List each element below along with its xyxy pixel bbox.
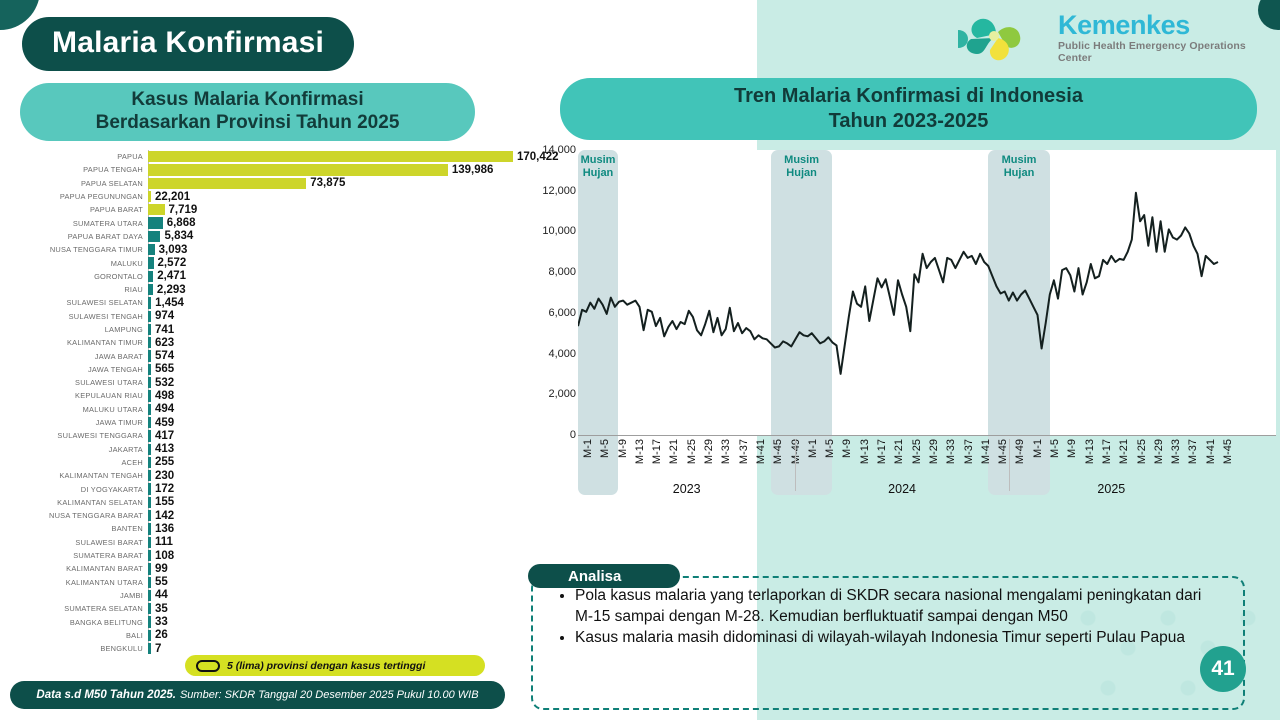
clover-logo-icon bbox=[950, 8, 1050, 64]
bar-track: 142 bbox=[148, 509, 515, 522]
bar-chart-row: KALIMANTAN SELATAN155 bbox=[0, 496, 515, 509]
bar-chart-row: BANGKA BELITUNG33 bbox=[0, 615, 515, 628]
bar-chart-row: SUMATERA SELATAN35 bbox=[0, 602, 515, 615]
bar-chart-row: PAPUA TENGAH139,986 bbox=[0, 163, 515, 176]
bar-chart-row: JAWA TIMUR459 bbox=[0, 416, 515, 429]
bar-chart-row: MALUKU UTARA494 bbox=[0, 403, 515, 416]
kemenkes-logo: Kemenkes Public Health Emergency Operati… bbox=[950, 8, 1260, 64]
right-chart-title-line2: Tahun 2023-2025 bbox=[829, 109, 989, 134]
bar-chart-row: KALIMANTAN BARAT99 bbox=[0, 562, 515, 575]
line-chart-x-axis bbox=[578, 435, 1276, 436]
year-separator bbox=[795, 439, 796, 491]
bar-fill bbox=[148, 271, 153, 282]
x-tick-label: M-45 bbox=[772, 439, 784, 464]
x-tick-label: M-25 bbox=[1136, 439, 1148, 464]
bar-track: 459 bbox=[148, 416, 515, 429]
trend-line-series bbox=[578, 150, 1276, 435]
bar-category-label: PAPUA TENGAH bbox=[0, 165, 148, 174]
bar-value-label: 2,572 bbox=[158, 257, 187, 269]
footer-data-period: Data s.d M50 Tahun 2025. bbox=[36, 689, 176, 701]
page-title: Malaria Konfirmasi bbox=[22, 17, 354, 71]
bar-chart-row: GORONTALO2,471 bbox=[0, 270, 515, 283]
bar-fill bbox=[148, 444, 151, 455]
bar-track: 741 bbox=[148, 323, 515, 336]
left-chart-title-line1: Kasus Malaria Konfirmasi bbox=[131, 89, 363, 112]
x-tick-label: M-45 bbox=[997, 439, 1009, 464]
bar-track: 99 bbox=[148, 562, 515, 575]
bar-value-label: 142 bbox=[155, 510, 174, 522]
legend-swatch-icon bbox=[196, 660, 220, 672]
bar-value-label: 565 bbox=[155, 363, 174, 375]
x-tick-label: M-29 bbox=[1153, 439, 1165, 464]
bar-value-label: 417 bbox=[155, 430, 174, 442]
x-tick-label: M-25 bbox=[911, 439, 923, 464]
bar-chart-row: PAPUA PEGUNUNGAN22,201 bbox=[0, 190, 515, 203]
bar-chart-row: RIAU2,293 bbox=[0, 283, 515, 296]
bar-track: 1,454 bbox=[148, 296, 515, 309]
bar-value-label: 172 bbox=[155, 483, 174, 495]
bar-fill bbox=[148, 324, 151, 335]
bar-chart-row: KALIMANTAN UTARA55 bbox=[0, 576, 515, 589]
bar-category-label: JAKARTA bbox=[0, 445, 148, 454]
bar-category-label: NUSA TENGGARA BARAT bbox=[0, 511, 148, 520]
bar-value-label: 494 bbox=[155, 403, 174, 415]
bar-value-label: 2,471 bbox=[157, 270, 186, 282]
bar-track: 172 bbox=[148, 482, 515, 495]
bar-category-label: KALIMANTAN BARAT bbox=[0, 564, 148, 573]
x-tick-label: M-17 bbox=[876, 439, 888, 464]
x-tick-label: M-13 bbox=[859, 439, 871, 464]
bar-chart-row: JAMBI44 bbox=[0, 589, 515, 602]
bar-chart-row: DI YOGYAKARTA172 bbox=[0, 482, 515, 495]
bar-fill bbox=[148, 616, 151, 627]
bar-fill bbox=[148, 164, 448, 175]
slide-root: Malaria Konfirmasi Kemenkes Public Healt… bbox=[0, 0, 1280, 720]
bar-value-label: 55 bbox=[155, 576, 168, 588]
bar-category-label: JAWA TENGAH bbox=[0, 365, 148, 374]
bar-chart-row: ACEH255 bbox=[0, 456, 515, 469]
bar-category-label: KALIMANTAN TIMUR bbox=[0, 338, 148, 347]
bar-track: 5,834 bbox=[148, 230, 515, 243]
bar-track: 498 bbox=[148, 389, 515, 402]
bar-fill bbox=[148, 430, 151, 441]
bar-track: 7 bbox=[148, 642, 515, 655]
bar-fill bbox=[148, 311, 151, 322]
bar-category-label: SUMATERA BARAT bbox=[0, 551, 148, 560]
bar-fill bbox=[148, 563, 151, 574]
bar-track: 494 bbox=[148, 403, 515, 416]
bar-track: 108 bbox=[148, 549, 515, 562]
bar-fill bbox=[148, 537, 151, 548]
x-tick-label: M-33 bbox=[1170, 439, 1182, 464]
bar-fill bbox=[148, 178, 306, 189]
bar-track: 44 bbox=[148, 589, 515, 602]
bar-category-label: BALI bbox=[0, 631, 148, 640]
bar-value-label: 574 bbox=[155, 350, 174, 362]
y-tick-label: 10,000 bbox=[520, 225, 576, 237]
bar-chart-row: SULAWESI UTARA532 bbox=[0, 376, 515, 389]
y-tick-label: 8,000 bbox=[520, 266, 576, 278]
bar-chart-row: KEPULAUAN RIAU498 bbox=[0, 389, 515, 402]
x-tick-label: M-17 bbox=[1101, 439, 1113, 464]
bar-track: 155 bbox=[148, 496, 515, 509]
bar-value-label: 5,834 bbox=[164, 230, 193, 242]
bar-fill bbox=[148, 377, 151, 388]
bar-value-label: 230 bbox=[155, 470, 174, 482]
analisa-bullet: Kasus malaria masih didominasi di wilaya… bbox=[575, 628, 1218, 649]
bar-fill bbox=[148, 630, 151, 641]
bar-fill bbox=[148, 577, 151, 588]
bar-value-label: 7 bbox=[155, 643, 161, 655]
bar-value-label: 26 bbox=[155, 629, 168, 641]
y-tick-label: 12,000 bbox=[520, 185, 576, 197]
bar-fill bbox=[148, 590, 151, 601]
bar-chart-row: BENGKULU7 bbox=[0, 642, 515, 655]
bar-fill bbox=[148, 284, 153, 295]
bar-fill bbox=[148, 457, 151, 468]
bar-value-label: 498 bbox=[155, 390, 174, 402]
x-tick-label: M-13 bbox=[634, 439, 646, 464]
bar-track: 139,986 bbox=[148, 163, 515, 176]
bar-category-label: SULAWESI SELATAN bbox=[0, 298, 148, 307]
x-tick-label: M-41 bbox=[1205, 439, 1217, 464]
bar-category-label: JAWA TIMUR bbox=[0, 418, 148, 427]
bar-category-label: PAPUA BARAT DAYA bbox=[0, 232, 148, 241]
bar-value-label: 532 bbox=[155, 377, 174, 389]
x-tick-label: M-9 bbox=[617, 439, 629, 458]
bar-value-label: 2,293 bbox=[157, 284, 186, 296]
bar-fill bbox=[148, 497, 151, 508]
x-tick-label: M-41 bbox=[755, 439, 767, 464]
bar-track: 111 bbox=[148, 536, 515, 549]
bar-track: 230 bbox=[148, 469, 515, 482]
year-label: 2023 bbox=[578, 482, 795, 496]
bar-chart-row: BALI26 bbox=[0, 629, 515, 642]
bar-track: 26 bbox=[148, 629, 515, 642]
bar-track: 623 bbox=[148, 336, 515, 349]
x-tick-label: M-33 bbox=[945, 439, 957, 464]
bar-category-label: JAWA BARAT bbox=[0, 352, 148, 361]
bar-track: 2,471 bbox=[148, 270, 515, 283]
x-tick-label: M-1 bbox=[582, 439, 594, 458]
bar-category-label: ACEH bbox=[0, 458, 148, 467]
bar-value-label: 136 bbox=[155, 523, 174, 535]
bar-category-label: SULAWESI TENGAH bbox=[0, 312, 148, 321]
bar-track: 413 bbox=[148, 443, 515, 456]
bar-category-label: KALIMANTAN TENGAH bbox=[0, 471, 148, 480]
bar-category-label: PAPUA bbox=[0, 152, 148, 161]
x-tick-label: M-17 bbox=[651, 439, 663, 464]
logo-text-block: Kemenkes Public Health Emergency Operati… bbox=[1058, 10, 1260, 64]
x-tick-label: M-9 bbox=[841, 439, 853, 458]
bar-fill bbox=[148, 404, 151, 415]
right-chart-title: Tren Malaria Konfirmasi di Indonesia Tah… bbox=[560, 78, 1257, 140]
bar-category-label: NUSA TENGGARA TIMUR bbox=[0, 245, 148, 254]
bar-category-label: BENGKULU bbox=[0, 644, 148, 653]
x-tick-label: M-41 bbox=[980, 439, 992, 464]
bar-value-label: 139,986 bbox=[452, 164, 494, 176]
bar-track: 2,293 bbox=[148, 283, 515, 296]
analisa-heading: Analisa bbox=[528, 564, 680, 588]
x-tick-label: M-21 bbox=[1118, 439, 1130, 464]
bar-category-label: SUMATERA UTARA bbox=[0, 219, 148, 228]
logo-name: Kemenkes bbox=[1058, 10, 1260, 41]
bar-track: 255 bbox=[148, 456, 515, 469]
bar-category-label: MALUKU bbox=[0, 259, 148, 268]
bar-value-label: 33 bbox=[155, 616, 168, 628]
year-label: 2025 bbox=[1009, 482, 1214, 496]
bar-fill bbox=[148, 204, 165, 215]
bar-value-label: 111 bbox=[155, 536, 173, 548]
bar-chart-row: JAKARTA413 bbox=[0, 443, 515, 456]
bar-fill bbox=[148, 643, 151, 654]
bar-value-label: 108 bbox=[155, 550, 174, 562]
bar-value-label: 413 bbox=[155, 443, 174, 455]
x-tick-label: M-5 bbox=[1049, 439, 1061, 458]
x-tick-label: M-1 bbox=[807, 439, 819, 458]
bar-category-label: BANTEN bbox=[0, 524, 148, 533]
x-tick-label: M-21 bbox=[893, 439, 905, 464]
bar-chart-row: MALUKU2,572 bbox=[0, 256, 515, 269]
source-footer: Data s.d M50 Tahun 2025. Sumber: SKDR Ta… bbox=[10, 681, 505, 709]
bar-category-label: PAPUA BARAT bbox=[0, 205, 148, 214]
bar-fill bbox=[148, 244, 155, 255]
x-tick-label: M-37 bbox=[1187, 439, 1199, 464]
bar-category-label: PAPUA PEGUNUNGAN bbox=[0, 192, 148, 201]
bar-value-label: 22,201 bbox=[155, 191, 190, 203]
x-tick-label: M-21 bbox=[668, 439, 680, 464]
bar-value-label: 99 bbox=[155, 563, 168, 575]
bar-value-label: 73,875 bbox=[310, 177, 345, 189]
bar-chart-row: JAWA TENGAH565 bbox=[0, 363, 515, 376]
bar-category-label: GORONTALO bbox=[0, 272, 148, 281]
bar-track: 974 bbox=[148, 310, 515, 323]
left-chart-title-line2: Berdasarkan Provinsi Tahun 2025 bbox=[96, 112, 400, 135]
bar-value-label: 7,719 bbox=[169, 204, 198, 216]
bar-fill bbox=[148, 550, 151, 561]
bar-track: 22,201 bbox=[148, 190, 515, 203]
bar-chart-row: SULAWESI BARAT111 bbox=[0, 536, 515, 549]
x-tick-label: M-37 bbox=[738, 439, 750, 464]
bar-track: 7,719 bbox=[148, 203, 515, 216]
bar-chart-row: JAWA BARAT574 bbox=[0, 349, 515, 362]
bar-fill bbox=[148, 350, 151, 361]
bar-fill bbox=[148, 417, 151, 428]
bar-fill bbox=[148, 470, 151, 481]
trend-polyline bbox=[578, 193, 1218, 374]
bar-value-label: 741 bbox=[155, 324, 174, 336]
x-tick-label: M-49 bbox=[1014, 439, 1026, 464]
bar-value-label: 255 bbox=[155, 456, 174, 468]
bar-category-label: SULAWESI UTARA bbox=[0, 378, 148, 387]
bar-category-label: JAMBI bbox=[0, 591, 148, 600]
bar-fill bbox=[148, 364, 151, 375]
bar-fill bbox=[148, 483, 151, 494]
x-tick-label: M-45 bbox=[1222, 439, 1234, 464]
bar-category-label: BANGKA BELITUNG bbox=[0, 618, 148, 627]
bar-track: 33 bbox=[148, 615, 515, 628]
bar-value-label: 155 bbox=[155, 496, 174, 508]
y-tick-label: 6,000 bbox=[520, 307, 576, 319]
bar-chart-row: PAPUA BARAT7,719 bbox=[0, 203, 515, 216]
bar-category-label: KALIMANTAN SELATAN bbox=[0, 498, 148, 507]
year-separator bbox=[1009, 439, 1010, 491]
bar-chart-row: LAMPUNG741 bbox=[0, 323, 515, 336]
analisa-bullet: Pola kasus malaria yang terlaporkan di S… bbox=[575, 586, 1218, 627]
analisa-bullet-list: Pola kasus malaria yang terlaporkan di S… bbox=[553, 586, 1218, 650]
line-chart-y-axis: 02,0004,0006,0008,00010,00012,00014,000 bbox=[520, 150, 576, 435]
bar-category-label: PAPUA SELATAN bbox=[0, 179, 148, 188]
x-tick-label: M-13 bbox=[1084, 439, 1096, 464]
bar-fill bbox=[148, 297, 151, 308]
bar-chart-row: SULAWESI TENGAH974 bbox=[0, 310, 515, 323]
bar-chart-row: PAPUA SELATAN73,875 bbox=[0, 177, 515, 190]
bar-track: 170,422 bbox=[148, 150, 515, 163]
bar-fill bbox=[148, 257, 154, 268]
bar-chart-row: NUSA TENGGARA TIMUR3,093 bbox=[0, 243, 515, 256]
bar-fill bbox=[148, 151, 513, 162]
bar-chart-row: NUSA TENGGARA BARAT142 bbox=[0, 509, 515, 522]
legend-label: 5 (lima) provinsi dengan kasus tertinggi bbox=[227, 660, 425, 672]
bar-category-label: SUMATERA SELATAN bbox=[0, 604, 148, 613]
left-chart-title: Kasus Malaria Konfirmasi Berdasarkan Pro… bbox=[20, 83, 475, 141]
bar-chart-legend: 5 (lima) provinsi dengan kasus tertinggi bbox=[185, 655, 485, 676]
bar-chart-row: PAPUA BARAT DAYA5,834 bbox=[0, 230, 515, 243]
bar-track: 2,572 bbox=[148, 256, 515, 269]
x-tick-label: M-29 bbox=[703, 439, 715, 464]
bar-fill bbox=[148, 510, 151, 521]
bar-chart-row: SUMATERA UTARA6,868 bbox=[0, 216, 515, 229]
bar-value-label: 459 bbox=[155, 417, 174, 429]
bar-track: 35 bbox=[148, 602, 515, 615]
x-tick-label: M-9 bbox=[1066, 439, 1078, 458]
bar-chart-row: KALIMANTAN TIMUR623 bbox=[0, 336, 515, 349]
bar-track: 565 bbox=[148, 363, 515, 376]
x-tick-label: M-5 bbox=[599, 439, 611, 458]
bar-category-label: KALIMANTAN UTARA bbox=[0, 578, 148, 587]
x-tick-label: M-1 bbox=[1032, 439, 1044, 458]
bar-track: 55 bbox=[148, 576, 515, 589]
bar-fill bbox=[148, 217, 163, 228]
y-tick-label: 2,000 bbox=[520, 388, 576, 400]
bar-fill bbox=[148, 191, 151, 202]
bar-fill bbox=[148, 231, 160, 242]
bar-track: 3,093 bbox=[148, 243, 515, 256]
bar-category-label: DI YOGYAKARTA bbox=[0, 485, 148, 494]
y-tick-label: 14,000 bbox=[520, 144, 576, 156]
bar-track: 417 bbox=[148, 429, 515, 442]
page-number-badge: 41 bbox=[1200, 646, 1246, 692]
bar-category-label: LAMPUNG bbox=[0, 325, 148, 334]
x-tick-label: M-5 bbox=[824, 439, 836, 458]
x-tick-label: M-33 bbox=[720, 439, 732, 464]
bar-fill bbox=[148, 337, 151, 348]
right-chart-title-line1: Tren Malaria Konfirmasi di Indonesia bbox=[734, 84, 1083, 109]
line-chart: 02,0004,0006,0008,00010,00012,00014,000 … bbox=[520, 142, 1280, 502]
bar-track: 532 bbox=[148, 376, 515, 389]
bar-value-label: 1,454 bbox=[155, 297, 184, 309]
bar-fill bbox=[148, 603, 151, 614]
bar-category-label: SULAWESI BARAT bbox=[0, 538, 148, 547]
year-label: 2024 bbox=[795, 482, 1008, 496]
bar-value-label: 6,868 bbox=[167, 217, 196, 229]
bar-chart: PAPUA170,422PAPUA TENGAH139,986PAPUA SEL… bbox=[0, 150, 515, 645]
bar-chart-row: PAPUA170,422 bbox=[0, 150, 515, 163]
bar-category-label: SULAWESI TENGGARA bbox=[0, 431, 148, 440]
bar-chart-row: KALIMANTAN TENGAH230 bbox=[0, 469, 515, 482]
bar-value-label: 35 bbox=[155, 603, 168, 615]
footer-source: Sumber: SKDR Tanggal 20 Desember 2025 Pu… bbox=[180, 689, 479, 701]
y-tick-label: 4,000 bbox=[520, 348, 576, 360]
bar-track: 574 bbox=[148, 349, 515, 362]
bar-value-label: 3,093 bbox=[159, 244, 188, 256]
x-tick-label: M-25 bbox=[686, 439, 698, 464]
bar-value-label: 623 bbox=[155, 337, 174, 349]
bar-track: 6,868 bbox=[148, 216, 515, 229]
bar-track: 73,875 bbox=[148, 177, 515, 190]
logo-subtitle: Public Health Emergency Operations Cente… bbox=[1058, 40, 1260, 64]
bar-chart-row: SULAWESI TENGGARA417 bbox=[0, 429, 515, 442]
y-tick-label: 0 bbox=[520, 429, 576, 441]
bar-chart-row: SULAWESI SELATAN1,454 bbox=[0, 296, 515, 309]
bar-fill bbox=[148, 390, 151, 401]
bar-value-label: 974 bbox=[155, 310, 174, 322]
bar-category-label: MALUKU UTARA bbox=[0, 405, 148, 414]
bar-track: 136 bbox=[148, 522, 515, 535]
x-tick-label: M-37 bbox=[963, 439, 975, 464]
bar-chart-row: BANTEN136 bbox=[0, 522, 515, 535]
x-tick-label: M-29 bbox=[928, 439, 940, 464]
bar-category-label: RIAU bbox=[0, 285, 148, 294]
bar-fill bbox=[148, 523, 151, 534]
bar-value-label: 44 bbox=[155, 589, 168, 601]
bar-category-label: KEPULAUAN RIAU bbox=[0, 391, 148, 400]
bar-chart-row: SUMATERA BARAT108 bbox=[0, 549, 515, 562]
